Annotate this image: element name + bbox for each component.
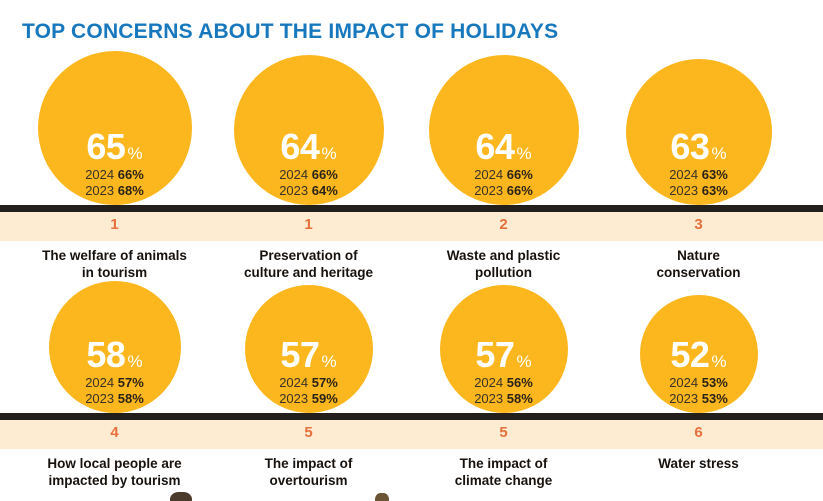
history-value: 58%: [118, 391, 144, 406]
concern-label-line: impacted by tourism: [12, 473, 217, 490]
bubble-value-percent-sign: %: [321, 353, 336, 370]
bubble-cell: 64 % 2024 66% 2023 66%: [401, 55, 606, 205]
concern-label: How local people are impacted by tourism: [12, 456, 217, 490]
bubble-value: 58 %: [86, 337, 142, 373]
history-year: 2023: [85, 391, 114, 406]
bubble-value: 64 %: [280, 129, 336, 165]
bubble-value-percent-sign: %: [516, 145, 531, 162]
history-line: 2024 57%: [279, 375, 338, 391]
history-year: 2024: [669, 375, 698, 390]
history-line: 2023 53%: [669, 391, 728, 407]
bubble-value-number: 64: [475, 129, 514, 165]
bubble-cell: 58 % 2024 57% 2023 58%: [12, 281, 217, 413]
history-year: 2024: [474, 167, 503, 182]
concern-label-line: in tourism: [12, 265, 217, 282]
bubble-value: 63 %: [670, 129, 726, 165]
history-value: 66%: [507, 167, 533, 182]
label-row: How local people are impacted by tourism…: [0, 449, 823, 497]
bubble-value-number: 58: [86, 337, 125, 373]
bubble-value-percent-sign: %: [321, 145, 336, 162]
concern-label-line: How local people are: [12, 456, 217, 473]
concern-label-line: conservation: [596, 265, 801, 282]
history-year: 2024: [85, 375, 114, 390]
concern-label-line: The impact of: [206, 456, 411, 473]
history-value: 64%: [312, 183, 338, 198]
bubble-group-row-1: 65 % 2024 66% 2023 68% 64 %: [0, 52, 823, 205]
rank-number: 5: [206, 424, 411, 441]
bubble-value-percent-sign: %: [516, 353, 531, 370]
bubble-value-number: 57: [475, 337, 514, 373]
history-value: 53%: [702, 391, 728, 406]
concern-bubble[interactable]: 57 % 2024 56% 2023 58%: [440, 285, 568, 413]
bubble-value-percent-sign: %: [711, 145, 726, 162]
concern-label-line: The welfare of animals: [12, 248, 217, 265]
bubble-value: 57 %: [280, 337, 336, 373]
bubble-value-percent-sign: %: [127, 353, 142, 370]
history-year: 2024: [279, 375, 308, 390]
history-line: 2024 66%: [474, 167, 533, 183]
history-year: 2023: [669, 183, 698, 198]
baseline-bar: [0, 413, 823, 420]
rank-number: 4: [12, 424, 217, 441]
history-line: 2024 56%: [474, 375, 533, 391]
history-line: 2023 59%: [279, 391, 338, 407]
concern-label-line: overtourism: [206, 473, 411, 490]
history-year: 2024: [669, 167, 698, 182]
concerns-row-1: 65 % 2024 66% 2023 68% 64 %: [0, 52, 823, 289]
bubble-value-percent-sign: %: [127, 145, 142, 162]
history-value: 57%: [118, 375, 144, 390]
rank-number: 5: [401, 424, 606, 441]
bubble-cell: 57 % 2024 57% 2023 59%: [206, 285, 411, 413]
concern-label-line: Preservation of: [206, 248, 411, 265]
history-line: 2024 66%: [279, 167, 338, 183]
concern-bubble[interactable]: 65 % 2024 66% 2023 68%: [38, 51, 192, 205]
history-year: 2024: [474, 375, 503, 390]
bubble-value-number: 57: [280, 337, 319, 373]
concern-label: Waste and plastic pollution: [401, 248, 606, 282]
history-line: 2024 66%: [85, 167, 144, 183]
rank-number: 1: [12, 216, 217, 233]
bubble-cell: 57 % 2024 56% 2023 58%: [401, 285, 606, 413]
history-value: 68%: [118, 183, 144, 198]
concern-bubble[interactable]: 63 % 2024 63% 2023 63%: [626, 59, 772, 205]
concern-label-line: culture and heritage: [206, 265, 411, 282]
bubble-value: 52 %: [670, 337, 726, 373]
history-value: 63%: [702, 183, 728, 198]
history-value: 57%: [312, 375, 338, 390]
cropped-illustration-icon: [375, 493, 389, 501]
bubble-cell: 64 % 2024 66% 2023 64%: [206, 55, 411, 205]
history-value: 53%: [702, 375, 728, 390]
history-value: 58%: [507, 391, 533, 406]
history-line: 2023 66%: [474, 183, 533, 199]
history-line: 2024 63%: [669, 167, 728, 183]
history-line: 2023 68%: [85, 183, 144, 199]
history-year: 2024: [85, 167, 114, 182]
history-value: 66%: [312, 167, 338, 182]
rank-number: 1: [206, 216, 411, 233]
history-year: 2024: [279, 167, 308, 182]
history-line: 2023 63%: [669, 183, 728, 199]
concern-label-line: pollution: [401, 265, 606, 282]
history-year: 2023: [474, 391, 503, 406]
concern-bubble[interactable]: 52 % 2024 53% 2023 53%: [640, 295, 758, 413]
concerns-row-2: 58 % 2024 57% 2023 58% 57 %: [0, 282, 823, 497]
concern-label-line: climate change: [401, 473, 606, 490]
concern-label-line: The impact of: [401, 456, 606, 473]
rank-number: 6: [596, 424, 801, 441]
bubble-group-row-2: 58 % 2024 57% 2023 58% 57 %: [0, 282, 823, 413]
rank-band: 4 5 5 6: [0, 420, 823, 449]
bubble-cell: 63 % 2024 63% 2023 63%: [596, 59, 801, 205]
cropped-illustration-icon: [170, 492, 192, 501]
rank-band: 1 1 2 3: [0, 212, 823, 241]
bubble-value: 64 %: [475, 129, 531, 165]
bubble-value-number: 63: [670, 129, 709, 165]
concern-label: The impact of overtourism: [206, 456, 411, 490]
bubble-value-number: 52: [670, 337, 709, 373]
concern-label: Nature conservation: [596, 248, 801, 282]
baseline-bar: [0, 205, 823, 212]
history-value: 66%: [118, 167, 144, 182]
history-year: 2023: [279, 183, 308, 198]
concern-label: Water stress: [596, 456, 801, 473]
bubble-value: 65 %: [86, 129, 142, 165]
concern-label-line: Water stress: [596, 456, 801, 473]
history-value: 56%: [507, 375, 533, 390]
history-line: 2024 57%: [85, 375, 144, 391]
history-year: 2023: [474, 183, 503, 198]
concern-label: Preservation of culture and heritage: [206, 248, 411, 282]
rank-number: 2: [401, 216, 606, 233]
history-line: 2023 58%: [85, 391, 144, 407]
bubble-value-number: 64: [280, 129, 319, 165]
bubble-value-number: 65: [86, 129, 125, 165]
concern-label: The impact of climate change: [401, 456, 606, 490]
history-value: 59%: [312, 391, 338, 406]
bubble-value: 57 %: [475, 337, 531, 373]
concern-bubble[interactable]: 57 % 2024 57% 2023 59%: [245, 285, 373, 413]
history-line: 2024 53%: [669, 375, 728, 391]
rank-number: 3: [596, 216, 801, 233]
concern-bubble[interactable]: 58 % 2024 57% 2023 58%: [49, 281, 181, 413]
bubble-value-percent-sign: %: [711, 353, 726, 370]
history-line: 2023 64%: [279, 183, 338, 199]
bubble-cell: 52 % 2024 53% 2023 53%: [596, 295, 801, 413]
bubble-cell: 65 % 2024 66% 2023 68%: [12, 51, 217, 205]
page-title: TOP CONCERNS ABOUT THE IMPACT OF HOLIDAY…: [22, 20, 558, 44]
concern-bubble[interactable]: 64 % 2024 66% 2023 66%: [429, 55, 579, 205]
history-year: 2023: [85, 183, 114, 198]
history-year: 2023: [669, 391, 698, 406]
history-line: 2023 58%: [474, 391, 533, 407]
concern-bubble[interactable]: 64 % 2024 66% 2023 64%: [234, 55, 384, 205]
history-value: 66%: [507, 183, 533, 198]
concern-label: The welfare of animals in tourism: [12, 248, 217, 282]
concern-label-line: Waste and plastic: [401, 248, 606, 265]
history-value: 63%: [702, 167, 728, 182]
history-year: 2023: [279, 391, 308, 406]
concern-label-line: Nature: [596, 248, 801, 265]
